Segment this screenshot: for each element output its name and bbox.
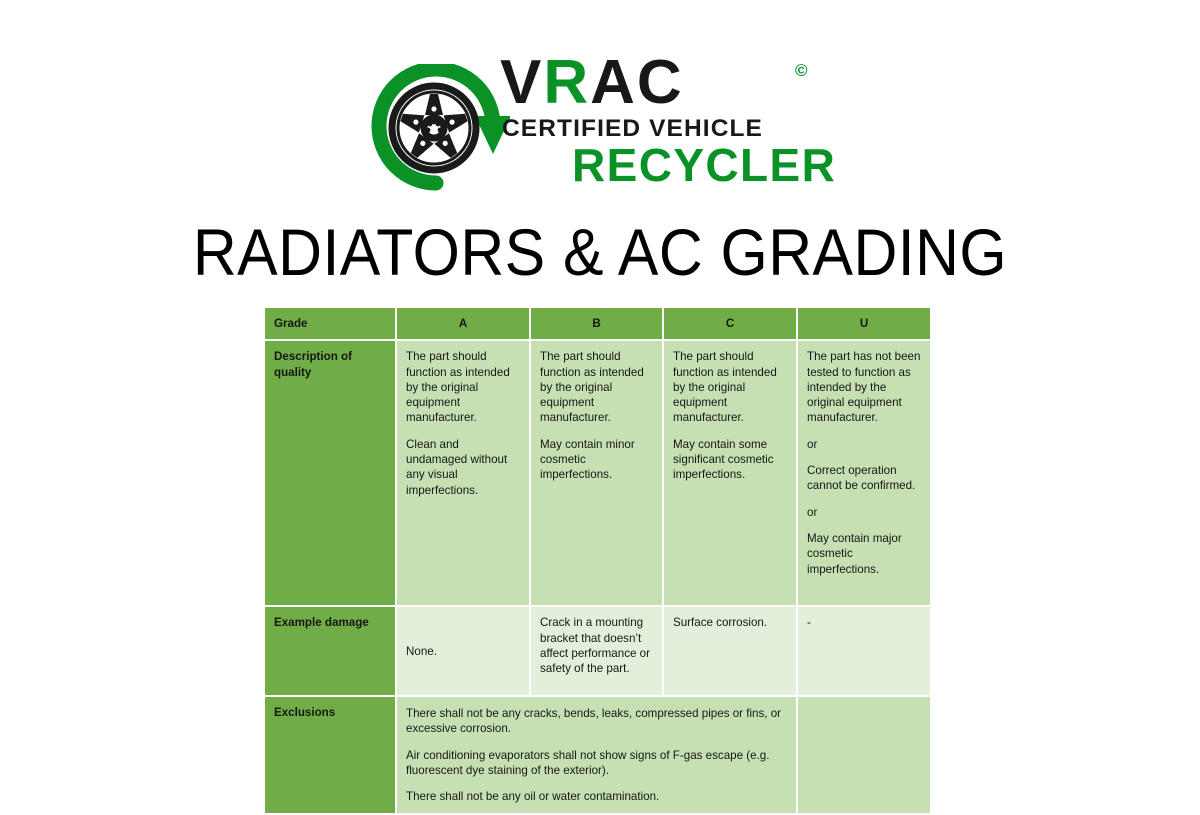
table-row: Description of quality The part should f…: [265, 341, 932, 607]
table-row: Exclusions There shall not be any cracks…: [265, 697, 932, 815]
cell-paragraph: The part should function as intended by …: [406, 349, 520, 425]
cell-paragraph: Correct operation cannot be confirmed.: [807, 463, 921, 494]
table-header: Grade A B C U: [265, 308, 932, 341]
row-label-description-of-quality: Description of quality: [265, 341, 397, 607]
cell-example-grade-u: -: [798, 607, 932, 697]
cell-paragraph: Surface corrosion.: [673, 615, 787, 630]
page-title: RADIATORS & AC GRADING: [48, 214, 1152, 290]
cell-paragraph: or: [807, 505, 921, 520]
cell-description-grade-a: The part should function as intended by …: [397, 341, 531, 607]
logo-letter-r: R: [543, 48, 590, 117]
logo-letter-v: V: [500, 48, 543, 117]
cell-paragraph: The part should function as intended by …: [673, 349, 787, 425]
header-grade-label: Grade: [265, 308, 397, 341]
header-grade-c: C: [664, 308, 798, 341]
header-grade-b: B: [531, 308, 664, 341]
row-label-exclusions: Exclusions: [265, 697, 397, 815]
cell-paragraph: Crack in a mounting bracket that doesn’t…: [540, 615, 653, 676]
recycle-arrow-wheel-icon: [370, 64, 510, 196]
grading-table-container: Grade A B C U Description of quality The…: [265, 308, 932, 815]
logo-tagline-recycler: RECYCLER: [572, 142, 836, 188]
cell-paragraph: None.: [406, 644, 520, 659]
logo-tagline-certified: CERTIFIED VEHICLE: [502, 117, 763, 142]
logo-wordmark: VRAC © CERTIFIED VEHICLE RECYCLER: [500, 58, 830, 198]
copyright-icon: ©: [795, 62, 808, 79]
cell-description-grade-b: The part should function as intended by …: [531, 341, 664, 607]
cell-paragraph: May contain major cosmetic imperfections…: [807, 531, 921, 577]
cell-example-grade-b: Crack in a mounting bracket that doesn’t…: [531, 607, 664, 697]
cell-description-grade-c: The part should function as intended by …: [664, 341, 798, 607]
cell-exclusions-grade-u: [798, 697, 932, 815]
cell-paragraph: There shall not be any oil or water cont…: [406, 789, 787, 804]
cell-exclusions-body: There shall not be any cracks, bends, le…: [397, 697, 798, 815]
table-row: Example damage None. Crack in a mounting…: [265, 607, 932, 697]
header-grade-a: A: [397, 308, 531, 341]
cell-description-grade-u: The part has not been tested to function…: [798, 341, 932, 607]
cell-paragraph: May contain some significant cosmetic im…: [673, 437, 787, 483]
cell-example-grade-c: Surface corrosion.: [664, 607, 798, 697]
logo-vrac-text: VRAC: [500, 52, 684, 114]
brand-logo: VRAC © CERTIFIED VEHICLE RECYCLER: [0, 58, 1200, 198]
logo-letters-ac: AC: [590, 48, 684, 117]
cell-paragraph: There shall not be any cracks, bends, le…: [406, 706, 787, 737]
table-body: Description of quality The part should f…: [265, 341, 932, 815]
grading-table: Grade A B C U Description of quality The…: [265, 308, 932, 815]
cell-paragraph: The part has not been tested to function…: [807, 349, 921, 425]
cell-example-grade-a: None.: [397, 607, 531, 697]
cell-paragraph: Air conditioning evaporators shall not s…: [406, 748, 787, 779]
header-grade-u: U: [798, 308, 932, 341]
cell-paragraph: -: [807, 615, 921, 630]
cell-paragraph: The part should function as intended by …: [540, 349, 653, 425]
table-header-row: Grade A B C U: [265, 308, 932, 341]
cell-paragraph: or: [807, 437, 921, 452]
cell-paragraph: May contain minor cosmetic imperfections…: [540, 437, 653, 483]
cell-paragraph: Clean and undamaged without any visual i…: [406, 437, 520, 498]
row-label-example-damage: Example damage: [265, 607, 397, 697]
